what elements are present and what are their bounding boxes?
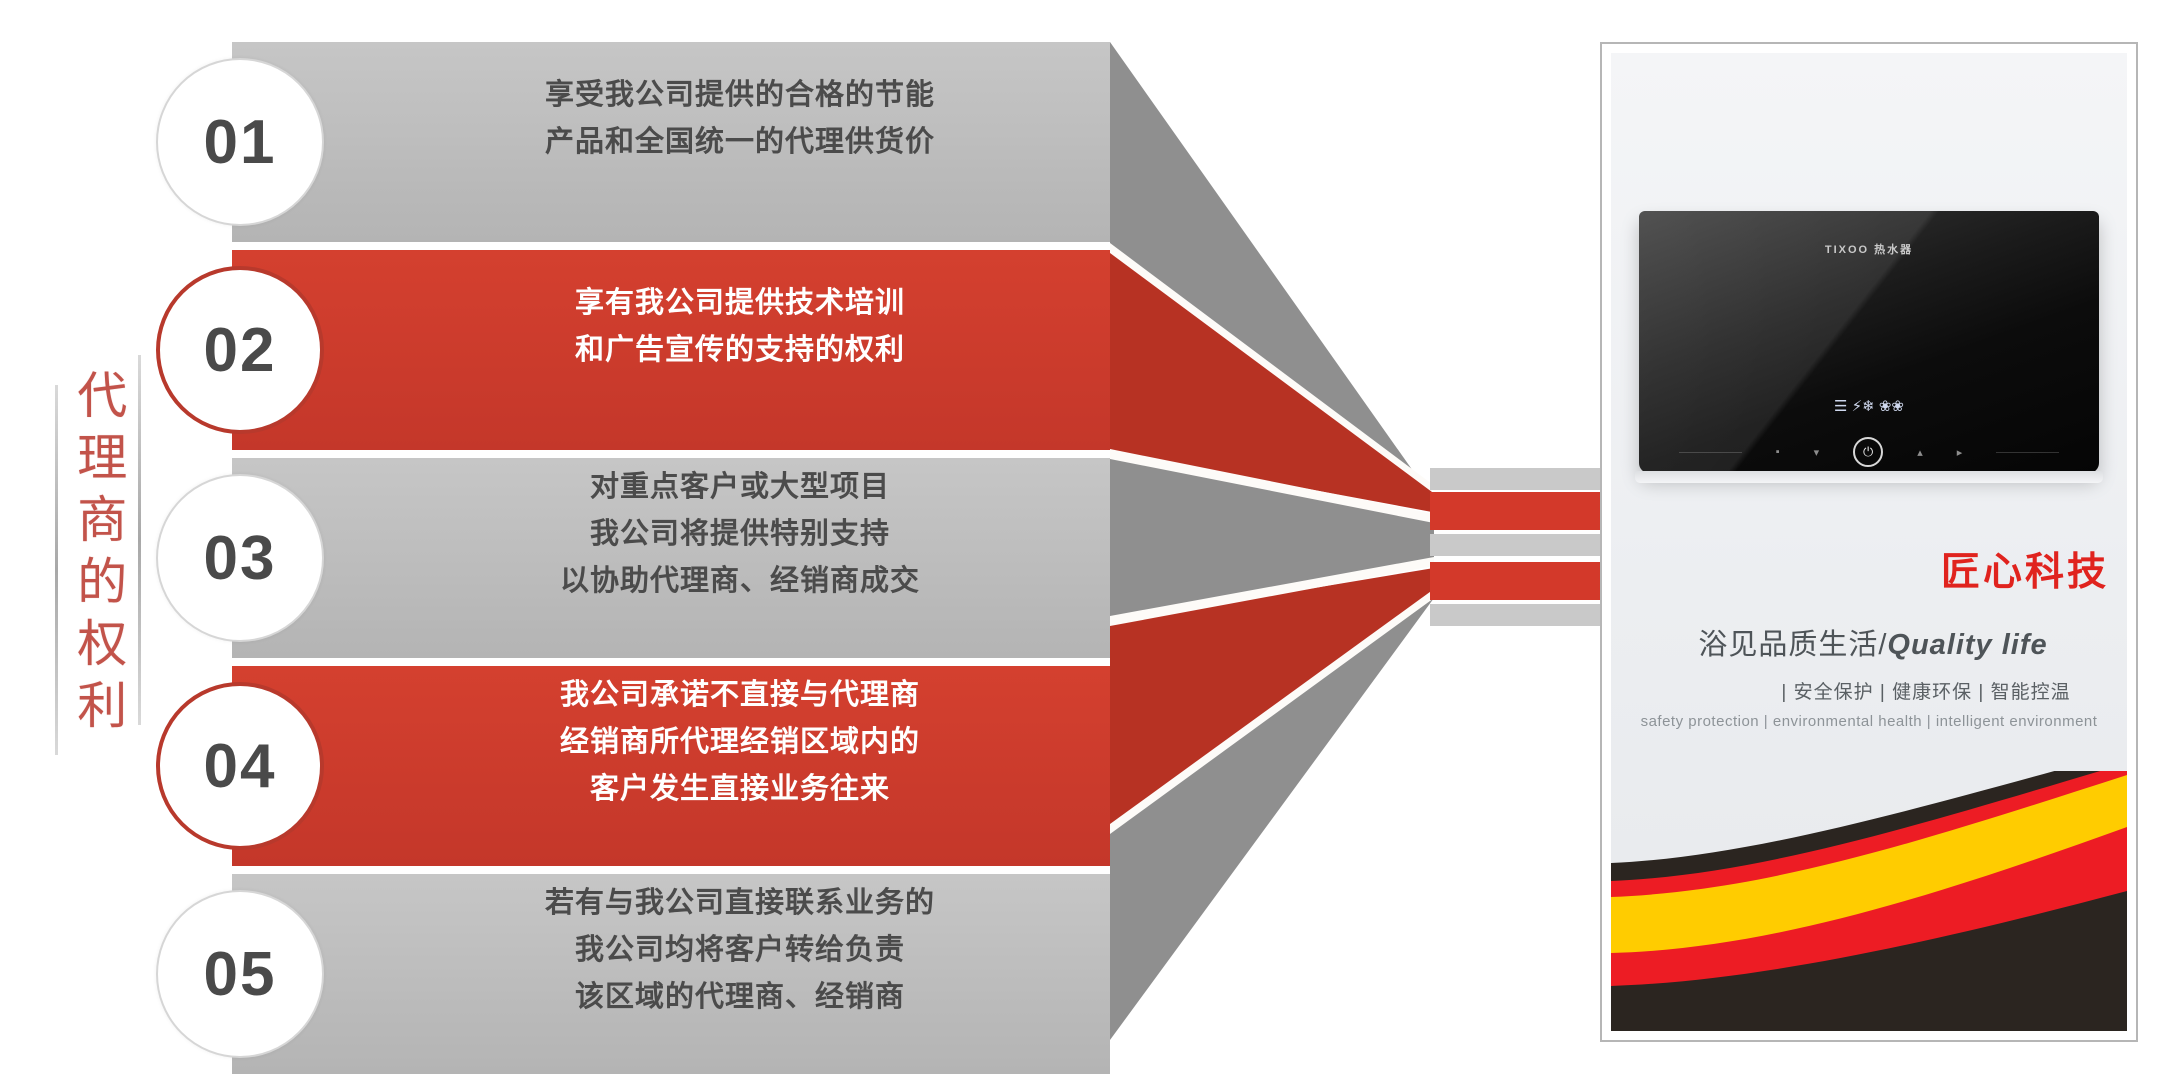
step-number-05: 05 — [204, 939, 277, 1010]
slogan-subline-en: Quality life — [1887, 629, 2047, 661]
step-circle-01[interactable]: 01 — [156, 58, 324, 226]
step-number-03: 03 — [204, 523, 277, 594]
step-text-04-line-2: 经销商所代理经销区域内的 — [430, 719, 1050, 766]
step-text-03-line-2: 我公司将提供特别支持 — [430, 511, 1050, 558]
step-text-05-line-2: 我公司均将客户转给负责 — [430, 927, 1050, 974]
step-number-01: 01 — [204, 107, 277, 178]
chevron-right-icon[interactable]: ▸ — [1957, 446, 1963, 459]
water-heater-image: TIXOO 热水器 ☰ ⚡❄ ❀❀ ▪ ▾ ⏻ ▴ ▸ — [1639, 211, 2099, 473]
infographic-canvas: 代理商的权利 — [0, 0, 2164, 1080]
output-stripe-red-top — [1430, 492, 1608, 530]
output-stripe-gray-top — [1430, 468, 1608, 490]
output-stripe-red-bottom — [1430, 562, 1608, 600]
step-text-02-line-2: 和广告宣传的支持的权利 — [430, 327, 1050, 374]
step-text-05-line-3: 该区域的代理商、经销商 — [430, 974, 1050, 1021]
brand-swoosh-graphic — [1611, 771, 2127, 1031]
minus-icon[interactable]: ▪ — [1776, 446, 1780, 458]
feature-list-cn: | 安全保护 | 健康环保 | 智能控温 — [1731, 677, 2121, 704]
step-text-03-line-1: 对重点客户或大型项目 — [430, 464, 1050, 511]
feature-list-en: safety protection | environmental health… — [1613, 713, 2125, 730]
heater-display-icons: ☰ ⚡❄ ❀❀ — [1639, 397, 2099, 415]
heater-brand-logo: TIXOO 热水器 — [1639, 241, 2099, 257]
slogan-subline: 浴见品质生活/Quality life — [1627, 621, 2119, 663]
power-icon[interactable]: ⏻ — [1853, 437, 1883, 467]
step-text-04: 我公司承诺不直接与代理商 经销商所代理经销区域内的 客户发生直接业务往来 — [430, 672, 1050, 813]
step-circle-05[interactable]: 05 — [156, 890, 324, 1058]
heater-base-shadow — [1635, 471, 2103, 483]
step-text-04-line-3: 客户发生直接业务往来 — [430, 766, 1050, 813]
step-circle-03[interactable]: 03 — [156, 474, 324, 642]
step-text-02: 享有我公司提供技术培训 和广告宣传的支持的权利 — [430, 280, 1050, 374]
step-text-01-line-1: 享受我公司提供的合格的节能 — [430, 72, 1050, 119]
step-text-01-line-2: 产品和全国统一的代理供货价 — [430, 119, 1050, 166]
slogan-subline-cn: 浴见品质生活/ — [1698, 629, 1887, 661]
control-line-right — [1996, 452, 2059, 453]
step-number-04: 04 — [204, 731, 277, 802]
product-card: TIXOO 热水器 ☰ ⚡❄ ❀❀ ▪ ▾ ⏻ ▴ ▸ 匠心科技 浴见品质生活/… — [1600, 42, 2138, 1042]
step-circle-04[interactable]: 04 — [156, 682, 324, 850]
step-text-03-line-3: 以协助代理商、经销商成交 — [430, 558, 1050, 605]
step-text-04-line-1: 我公司承诺不直接与代理商 — [430, 672, 1050, 719]
output-stripe-gray-bottom — [1430, 604, 1608, 626]
step-number-02: 02 — [204, 315, 277, 386]
slogan-headline: 匠心科技 — [1611, 541, 2109, 597]
step-text-05: 若有与我公司直接联系业务的 我公司均将客户转给负责 该区域的代理商、经销商 — [430, 880, 1050, 1021]
step-text-01: 享受我公司提供的合格的节能 产品和全国统一的代理供货价 — [430, 72, 1050, 166]
control-line-left — [1679, 452, 1742, 453]
step-text-05-line-1: 若有与我公司直接联系业务的 — [430, 880, 1050, 927]
output-stripe-gray-mid — [1430, 534, 1608, 556]
step-text-03: 对重点客户或大型项目 我公司将提供特别支持 以协助代理商、经销商成交 — [430, 464, 1050, 605]
step-circle-02[interactable]: 02 — [156, 266, 324, 434]
chevron-up-icon[interactable]: ▴ — [1917, 446, 1923, 459]
chevron-down-icon[interactable]: ▾ — [1814, 446, 1820, 459]
step-text-02-line-1: 享有我公司提供技术培训 — [430, 280, 1050, 327]
heater-control-row: ▪ ▾ ⏻ ▴ ▸ — [1679, 437, 2059, 467]
product-card-inner: TIXOO 热水器 ☰ ⚡❄ ❀❀ ▪ ▾ ⏻ ▴ ▸ 匠心科技 浴见品质生活/… — [1611, 53, 2127, 1031]
